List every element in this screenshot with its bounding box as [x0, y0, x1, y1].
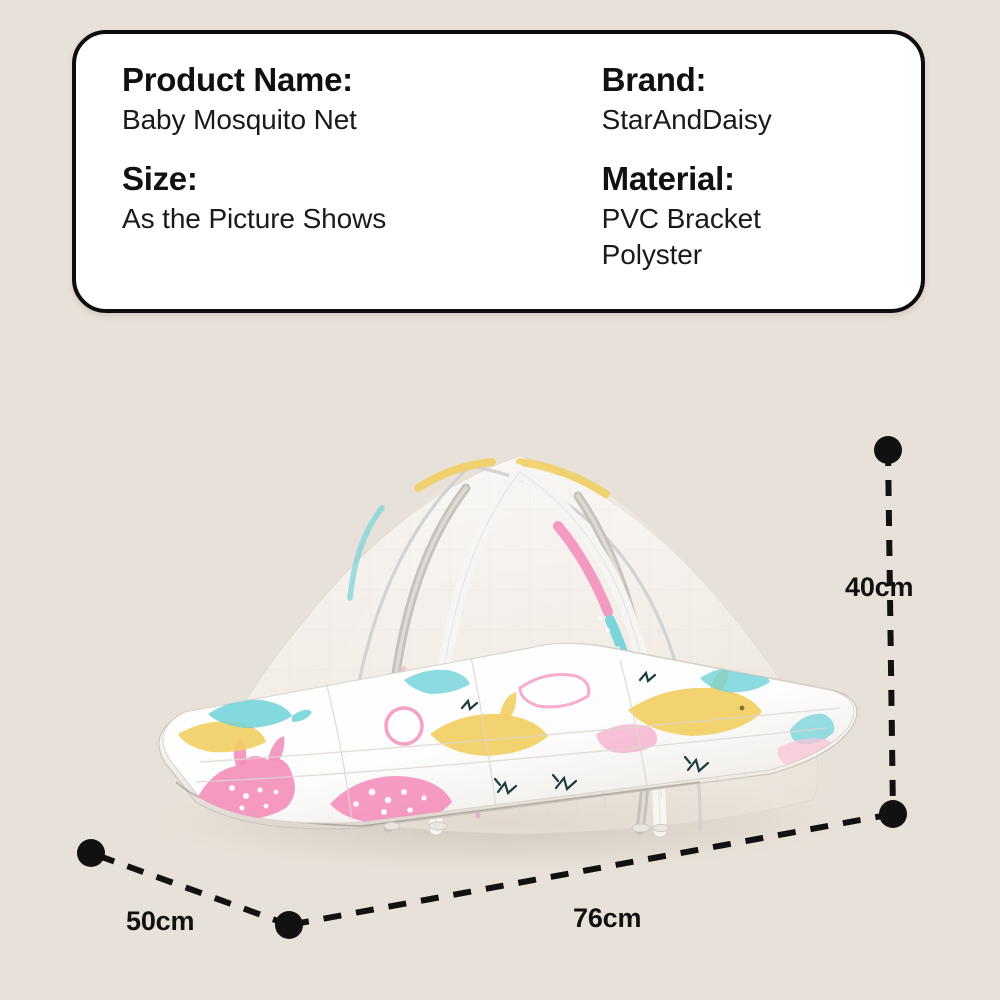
material-value-line-2: Polyster [602, 237, 921, 273]
material-value: PVC Bracket Polyster [602, 201, 921, 274]
size-value: As the Picture Shows [122, 201, 574, 237]
product-name-label: Product Name: [122, 60, 574, 100]
brand-value: StarAndDaisy [602, 102, 921, 138]
field-product-name: Product Name: Baby Mosquito Net [122, 60, 574, 139]
infographic-canvas: Product Name: Baby Mosquito Net Size: As… [0, 0, 1000, 1000]
brand-label: Brand: [602, 60, 921, 100]
material-label: Material: [602, 159, 921, 199]
product-illustration [0, 330, 1000, 930]
material-value-line-1: PVC Bracket [602, 201, 921, 237]
field-material: Material: PVC Bracket Polyster [602, 159, 921, 274]
product-name-value: Baby Mosquito Net [122, 102, 574, 138]
product-photo [0, 330, 1000, 930]
field-size: Size: As the Picture Shows [122, 159, 574, 238]
size-label: Size: [122, 159, 574, 199]
info-card-right-column: Brand: StarAndDaisy Material: PVC Bracke… [574, 34, 921, 309]
product-info-card: Product Name: Baby Mosquito Net Size: As… [72, 30, 925, 313]
field-brand: Brand: StarAndDaisy [602, 60, 921, 139]
info-card-left-column: Product Name: Baby Mosquito Net Size: As… [76, 34, 574, 309]
